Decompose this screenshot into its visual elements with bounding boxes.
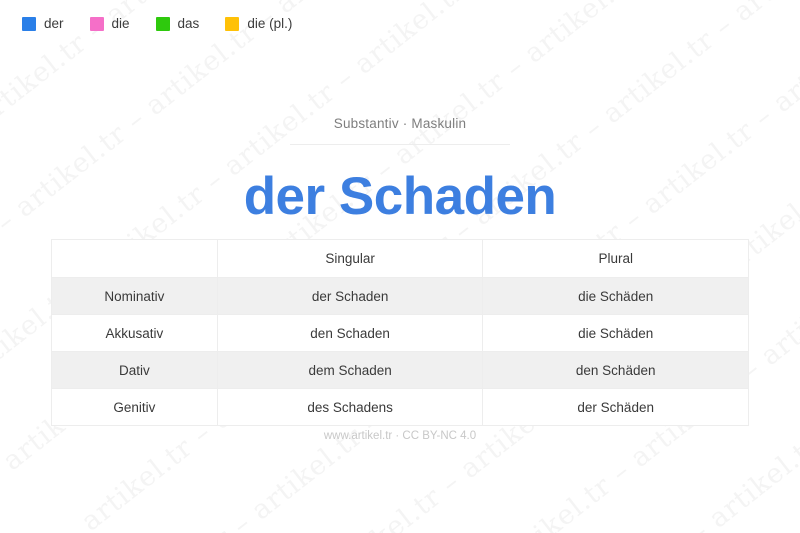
word-type-subtitle: Substantiv · Maskulin — [0, 116, 800, 131]
cell-dativ-plural: den Schäden — [483, 352, 749, 389]
cell-nominativ-singular: der Schaden — [217, 278, 483, 315]
heading-divider — [290, 144, 510, 145]
table-row: Dativ dem Schaden den Schäden — [52, 352, 749, 389]
column-header-singular: Singular — [217, 240, 483, 278]
article-color-legend: der die das die (pl.) — [22, 17, 292, 31]
column-header-case — [52, 240, 218, 278]
case-label-genitiv: Genitiv — [52, 389, 218, 426]
legend-item-der: der — [22, 17, 64, 31]
legend-label-das: das — [178, 17, 200, 31]
footer-credit: www.artikel.tr · CC BY-NC 4.0 — [0, 430, 800, 442]
cell-dativ-singular: dem Schaden — [217, 352, 483, 389]
legend-label-die: die — [112, 17, 130, 31]
legend-item-die-plural: die (pl.) — [225, 17, 292, 31]
table-header-row: Singular Plural — [52, 240, 749, 278]
case-label-dativ: Dativ — [52, 352, 218, 389]
table-row: Akkusativ den Schaden die Schäden — [52, 315, 749, 352]
case-label-akkusativ: Akkusativ — [52, 315, 218, 352]
cell-akkusativ-plural: die Schäden — [483, 315, 749, 352]
table-row: Genitiv des Schadens der Schäden — [52, 389, 749, 426]
legend-label-die-plural: die (pl.) — [247, 17, 292, 31]
heading-block: Substantiv · Maskulin der Schaden — [0, 0, 800, 225]
column-header-plural: Plural — [483, 240, 749, 278]
table-row: Nominativ der Schaden die Schäden — [52, 278, 749, 315]
case-label-nominativ: Nominativ — [52, 278, 218, 315]
cell-nominativ-plural: die Schäden — [483, 278, 749, 315]
cell-akkusativ-singular: den Schaden — [217, 315, 483, 352]
declension-table: Singular Plural Nominativ der Schaden di… — [51, 239, 749, 426]
page-title: der Schaden — [0, 169, 800, 225]
color-swatch-green — [156, 17, 170, 31]
legend-item-die: die — [90, 17, 130, 31]
declension-card: artikel.tr – artikel.tr – artikel.tr – a… — [0, 0, 800, 533]
legend-label-der: der — [44, 17, 64, 31]
color-swatch-pink — [90, 17, 104, 31]
color-swatch-amber — [225, 17, 239, 31]
legend-item-das: das — [156, 17, 200, 31]
cell-genitiv-singular: des Schadens — [217, 389, 483, 426]
color-swatch-blue — [22, 17, 36, 31]
cell-genitiv-plural: der Schäden — [483, 389, 749, 426]
